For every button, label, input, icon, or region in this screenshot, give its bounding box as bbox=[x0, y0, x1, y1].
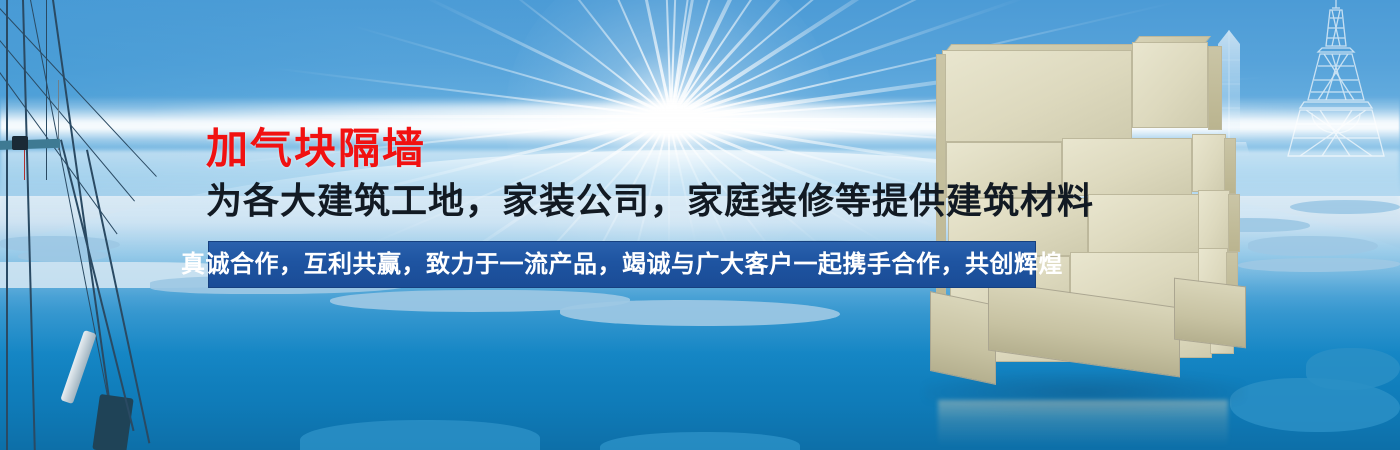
slogan-text: 真诚合作，互利共赢，致力于一流产品，竭诚与广大客户一起携手合作，共创辉煌 bbox=[181, 252, 1063, 278]
promotional-banner: 加气块隔墙 为各大建筑工地，家装公司，家庭装修等提供建筑材料 真诚合作，互利共赢… bbox=[0, 0, 1400, 450]
crane-counterweight bbox=[12, 136, 28, 150]
crane-hook-line bbox=[60, 330, 96, 404]
aac-block-wall bbox=[930, 26, 1260, 426]
slogan-bar: 真诚合作，互利共赢，致力于一流产品，竭诚与广大客户一起携手合作，共创辉煌 bbox=[208, 241, 1036, 288]
wall-reflection bbox=[938, 400, 1228, 446]
crane-jib bbox=[0, 139, 60, 150]
construction-crane bbox=[0, 0, 230, 450]
crane-hook-block bbox=[92, 394, 133, 450]
eiffel-tower-icon bbox=[1272, 0, 1400, 160]
subheadline: 为各大建筑工地，家装公司，家庭装修等提供建筑材料 bbox=[206, 181, 1106, 221]
headline: 加气块隔墙 bbox=[206, 126, 1106, 172]
banner-copy: 加气块隔墙 为各大建筑工地，家装公司，家庭装修等提供建筑材料 bbox=[206, 126, 1106, 221]
